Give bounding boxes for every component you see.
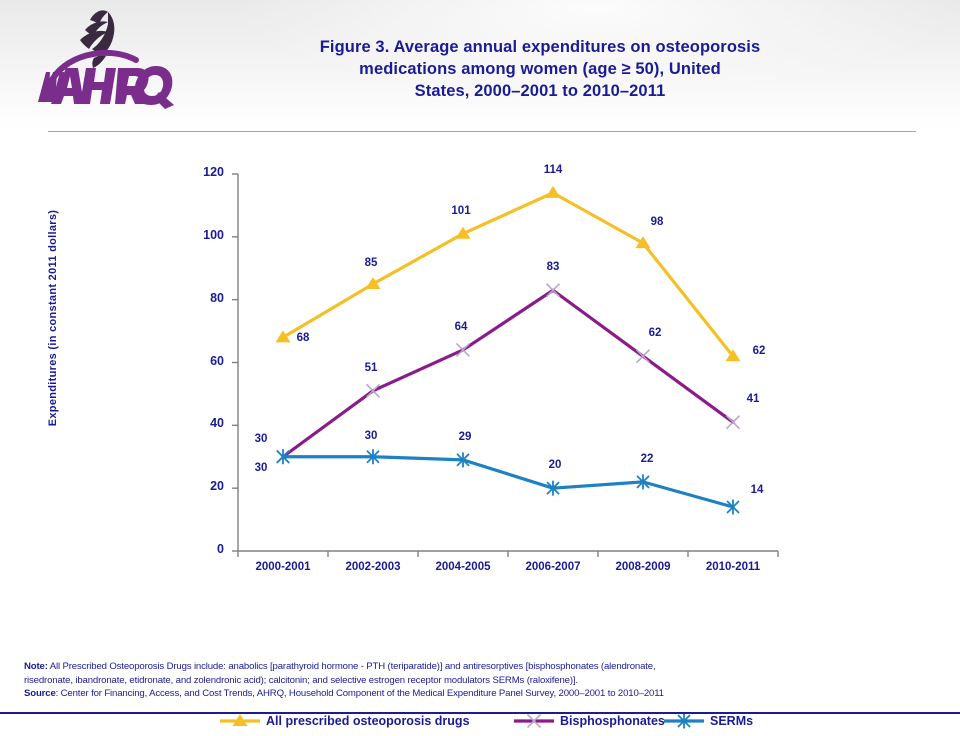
data-point-label: 68 (286, 332, 320, 344)
x-tick-label: 2002-2003 (327, 561, 419, 573)
footnote-source-text: : Center for Financing, Access, and Cost… (56, 688, 664, 699)
x-tick-label: 2004-2005 (417, 561, 509, 573)
series-2 (277, 449, 739, 514)
y-tick-label: 80 (190, 291, 224, 305)
ahrq-logo (28, 6, 178, 110)
x-tick-label: 2000-2001 (237, 561, 329, 573)
data-point-label: 14 (740, 484, 774, 496)
data-point-label: 41 (736, 393, 770, 405)
series-line (283, 290, 733, 457)
x-tick-label: 2010-2011 (687, 561, 779, 573)
footer-rule (0, 712, 960, 714)
y-axis-title: Expenditures (in constant 2011 dollars) (47, 203, 59, 433)
page-title: Figure 3. Average annual expenditures on… (250, 36, 830, 102)
data-point-label: 85 (354, 257, 388, 269)
legend-marker-asterisk-icon (662, 712, 706, 730)
data-point-label: 30 (244, 433, 278, 445)
series-marker (636, 236, 651, 248)
legend-item-1[interactable]: Bisphosphonates (512, 712, 665, 730)
series-marker (547, 284, 560, 297)
data-point-label: 98 (640, 216, 674, 228)
footnote-note-text-1: All Prescribed Osteoporosis Drugs includ… (48, 661, 656, 672)
legend-marker-triangle-icon (218, 712, 262, 730)
series-marker (546, 186, 561, 198)
legend-label: Bisphosphonates (560, 714, 665, 728)
data-point-label: 62 (638, 327, 672, 339)
data-point-label: 22 (630, 453, 664, 465)
hhs-eagle-symbol (80, 10, 114, 68)
footnote-source-key: Source (24, 688, 56, 699)
y-tick-label: 60 (190, 354, 224, 368)
data-point-label: 20 (538, 459, 572, 471)
footnote-note-line-2: risedronate, ibandronate, etidronate, an… (24, 674, 924, 688)
series-marker (457, 343, 470, 356)
data-point-label: 62 (742, 345, 776, 357)
data-point-label: 30 (244, 462, 278, 474)
title-line-1: Figure 3. Average annual expenditures on… (250, 36, 830, 58)
data-point-label: 83 (536, 261, 570, 273)
footnote: Note: All Prescribed Osteoporosis Drugs … (24, 660, 924, 701)
legend-item-2[interactable]: SERMs (662, 712, 753, 730)
axis-lines (238, 174, 778, 551)
footnote-note-key: Note: (24, 661, 48, 672)
plot-canvas (0, 132, 960, 612)
footnote-note-line-1: Note: All Prescribed Osteoporosis Drugs … (24, 660, 924, 674)
data-point-label: 30 (354, 430, 388, 442)
data-point-label: 29 (448, 431, 482, 443)
y-tick-label: 120 (190, 165, 224, 179)
x-tick-label: 2006-2007 (507, 561, 599, 573)
x-tick-label: 2008-2009 (597, 561, 689, 573)
title-line-2: medications among women (age ≥ 50), Unit… (250, 58, 830, 80)
legend-label: SERMs (710, 714, 753, 728)
chart-area: Expenditures (in constant 2011 dollars) … (0, 132, 960, 612)
series-marker (637, 350, 650, 363)
y-tick-label: 20 (190, 479, 224, 493)
y-tick-label: 40 (190, 416, 224, 430)
data-point-label: 51 (354, 362, 388, 374)
legend-label: All prescribed osteoporosis drugs (266, 714, 470, 728)
series-marker (367, 384, 380, 397)
y-tick-label: 0 (190, 542, 224, 556)
legend-marker-x-icon (512, 712, 556, 730)
ahrq-logo-graphic (28, 6, 178, 110)
title-line-3: States, 2000–2001 to 2010–2011 (250, 80, 830, 102)
series-marker (727, 416, 740, 429)
footnote-source-line: Source: Center for Financing, Access, an… (24, 687, 924, 701)
data-point-label: 64 (444, 321, 478, 333)
series-marker (366, 277, 381, 289)
data-point-label: 101 (444, 205, 478, 217)
series-line (283, 457, 733, 507)
data-point-label: 114 (536, 164, 570, 176)
series-1 (277, 284, 740, 464)
legend-item-0[interactable]: All prescribed osteoporosis drugs (218, 712, 470, 730)
y-tick-label: 100 (190, 228, 224, 242)
